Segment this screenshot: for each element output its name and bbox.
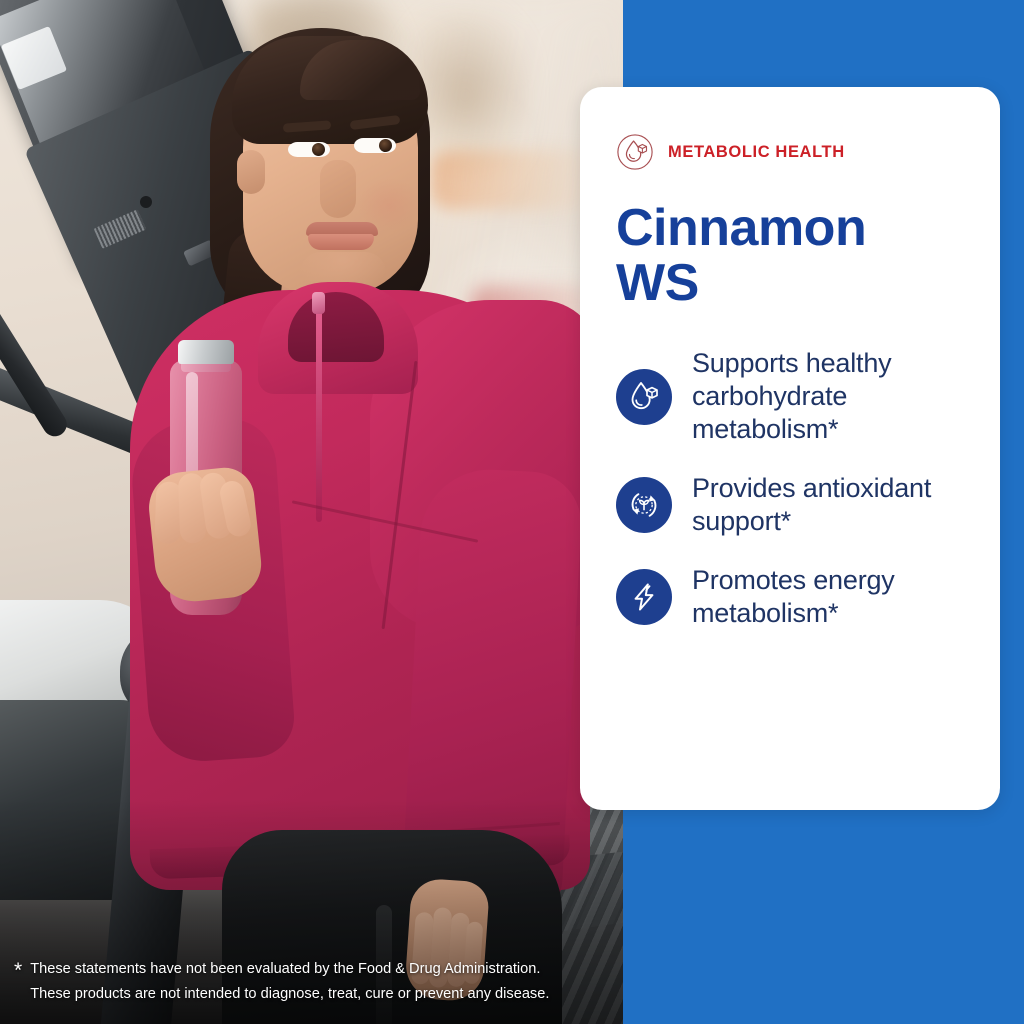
benefit-item-carbohydrate: Supports healthy carbohydrate metabolism… <box>616 347 966 446</box>
eye-left <box>288 142 330 157</box>
blurred-orange-highlight <box>430 150 605 210</box>
benefit-text: Provides antioxidant support* <box>692 472 966 538</box>
disclaimer-line-2: These products are not intended to diagn… <box>30 982 549 1008</box>
disclaimer-line-1: These statements have not been evaluated… <box>30 957 549 983</box>
page-title: Cinnamon WS <box>616 201 886 311</box>
jacket-zipper <box>316 292 322 522</box>
iris-right <box>379 139 392 152</box>
benefits-list: Supports healthy carbohydrate metabolism… <box>616 347 966 630</box>
droplet-sugar-cube-icon <box>616 369 672 425</box>
eye-right <box>354 138 396 153</box>
category-eyebrow: METABOLIC HEALTH <box>616 133 966 171</box>
jacket-zipper-pull <box>312 292 325 314</box>
benefit-item-energy: Promotes energy metabolism* <box>616 564 966 630</box>
lower-lip <box>308 234 374 250</box>
hero-photo <box>0 0 623 1024</box>
iris-left <box>312 143 325 156</box>
marketing-graphic: METABOLIC HEALTH Cinnamon WS Supports he… <box>0 0 1024 1024</box>
benefit-text: Promotes energy metabolism* <box>692 564 966 630</box>
benefit-text: Supports healthy carbohydrate metabolism… <box>692 347 966 446</box>
antioxidant-cycle-leaf-icon <box>616 477 672 533</box>
nose <box>320 160 356 218</box>
water-bottle-cap <box>178 340 234 364</box>
droplet-sugar-cube-icon <box>616 133 654 171</box>
category-label: METABOLIC HEALTH <box>668 143 845 162</box>
lightning-bolt-icon <box>616 569 672 625</box>
disclaimer-asterisk: * <box>14 957 22 982</box>
product-info-card: METABOLIC HEALTH Cinnamon WS Supports he… <box>580 87 1000 810</box>
benefit-item-antioxidant: Provides antioxidant support* <box>616 472 966 538</box>
hand-left <box>145 465 264 605</box>
disclaimer-lines: These statements have not been evaluated… <box>30 957 549 1008</box>
fda-disclaimer: * These statements have not been evaluat… <box>14 957 614 1008</box>
treadmill-button <box>140 196 152 208</box>
ear <box>237 150 265 194</box>
